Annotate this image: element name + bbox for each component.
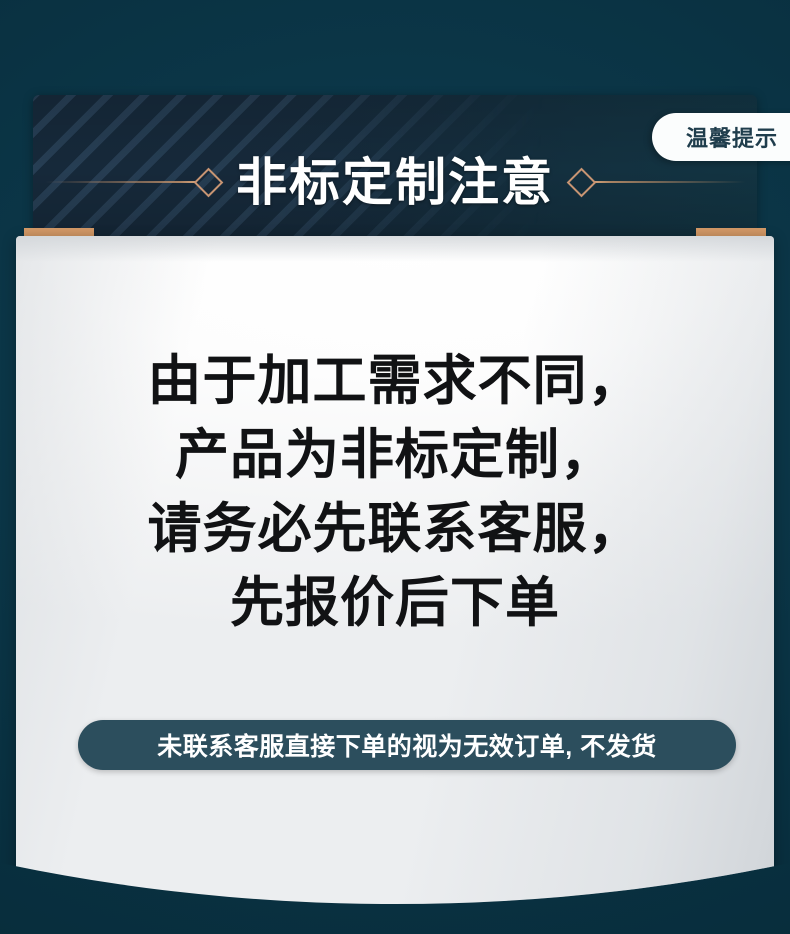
title-rule-right <box>595 181 745 183</box>
tip-badge-label: 温馨提示 <box>686 121 778 153</box>
message-line: 请务必先联系客服， <box>16 492 774 566</box>
diamond-icon-left <box>194 167 224 197</box>
paper-card: 由于加工需求不同， 产品为非标定制， 请务必先联系客服， 先报价后下单 未联系客… <box>16 236 774 904</box>
message-line: 由于加工需求不同， <box>16 344 774 418</box>
tip-badge: 温馨提示 <box>652 113 790 161</box>
notice-pill-label: 未联系客服直接下单的视为无效订单, 不发货 <box>157 727 656 763</box>
title-rule-left <box>45 181 195 183</box>
message-block: 由于加工需求不同， 产品为非标定制， 请务必先联系客服， 先报价后下单 <box>16 344 774 640</box>
diamond-icon-right <box>567 167 597 197</box>
banner-title-row: 非标定制注意 <box>33 147 757 217</box>
message-line: 产品为非标定制， <box>16 418 774 492</box>
notice-pill: 未联系客服直接下单的视为无效订单, 不发货 <box>78 720 736 770</box>
promo-poster: 非标定制注意 温馨提示 由于加工需求不同， 产品为非标定制， 请务必先联系客服，… <box>0 0 790 934</box>
message-line: 先报价后下单 <box>16 566 774 640</box>
paper-top-shadow <box>16 236 774 262</box>
banner-title: 非标定制注意 <box>222 157 568 208</box>
